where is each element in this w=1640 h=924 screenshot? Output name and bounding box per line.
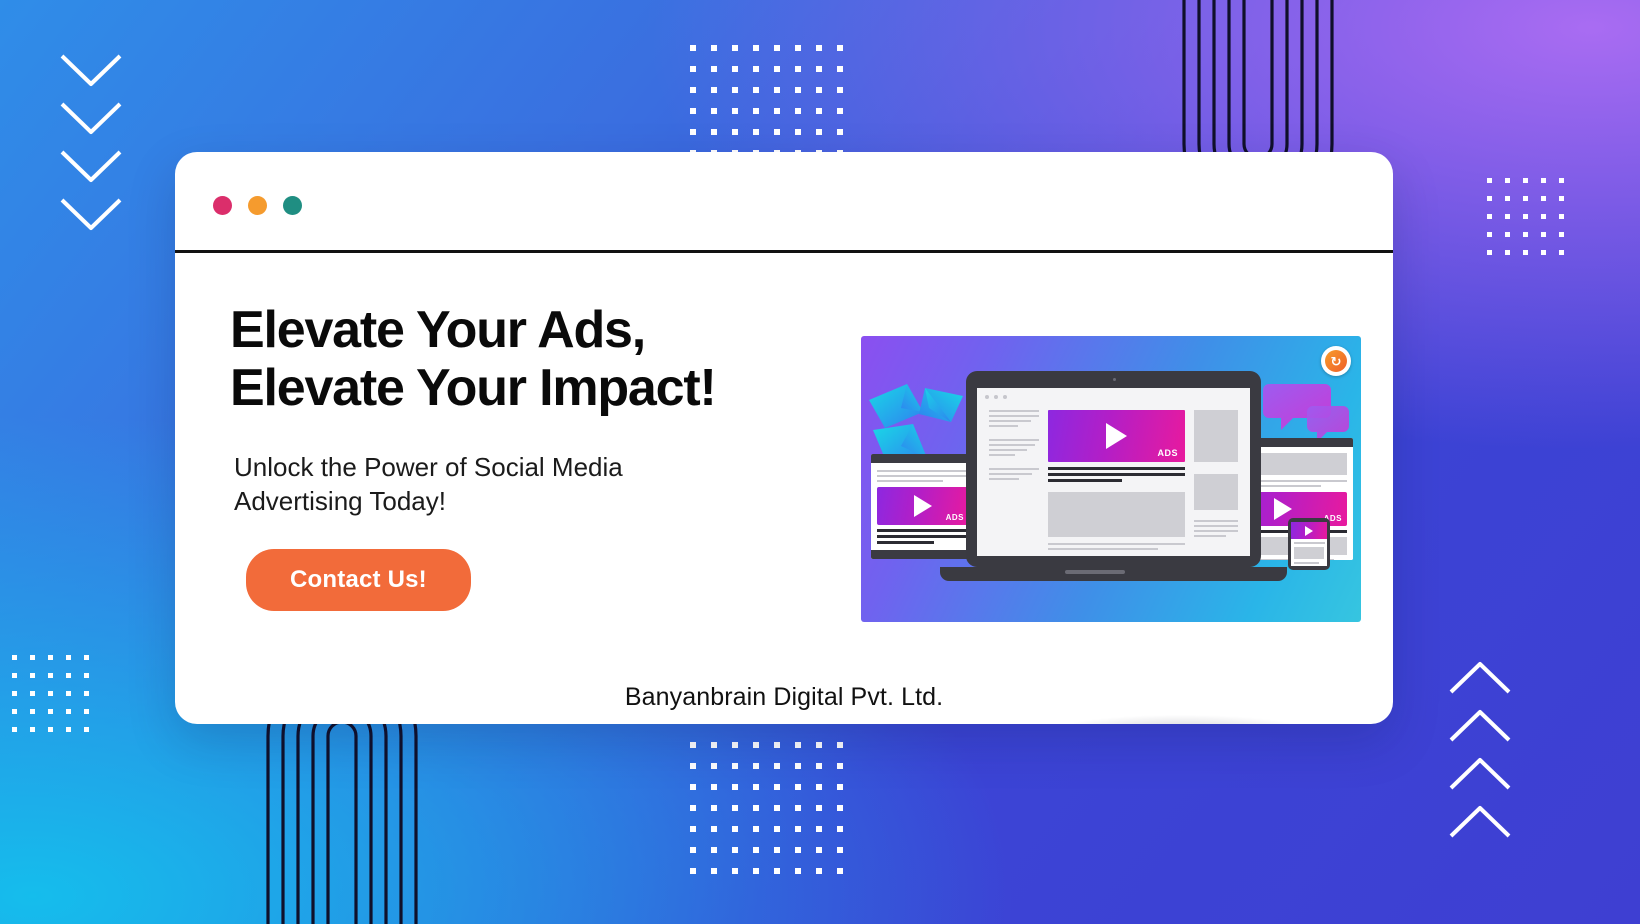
play-icon — [914, 495, 932, 517]
dot-grid-bottom — [690, 742, 858, 889]
chevron-up-icon — [1447, 652, 1513, 700]
close-dot-icon[interactable] — [213, 196, 232, 215]
brand-badge-icon[interactable]: ↻ — [1321, 346, 1351, 376]
laptop-trackpad-notch — [1065, 570, 1125, 574]
window-titlebar — [175, 152, 1393, 250]
dot-grid-right — [1487, 178, 1577, 268]
phone-screen — [1291, 522, 1327, 566]
chevron-up-icon — [1447, 796, 1513, 844]
browser-window-card: Elevate Your Ads, Elevate Your Impact! U… — [175, 152, 1393, 724]
headline-line-1: Elevate Your Ads, — [230, 301, 870, 359]
chevron-down-icon — [58, 146, 124, 194]
card-body: Elevate Your Ads, Elevate Your Impact! U… — [175, 253, 1393, 724]
laptop-video-ad[interactable]: ADS — [1048, 410, 1185, 462]
traffic-light-dots — [213, 196, 302, 215]
laptop-right-column — [1194, 410, 1238, 553]
ads-label: ADS — [1157, 448, 1178, 458]
page-title: Elevate Your Ads, Elevate Your Impact! — [230, 301, 870, 417]
chevron-up-icon — [1447, 700, 1513, 748]
laptop-camera-icon — [1113, 378, 1116, 381]
headline-line-2: Elevate Your Impact! — [230, 359, 870, 417]
play-icon — [1305, 526, 1313, 536]
contact-us-button[interactable]: Contact Us! — [246, 549, 471, 611]
chevron-down-icon — [58, 98, 124, 146]
poster-canvas: Elevate Your Ads, Elevate Your Impact! U… — [0, 0, 1640, 924]
illustration-multi-device-mockup: ADS — [861, 336, 1361, 622]
laptop-window-dots — [985, 395, 1007, 399]
chevron-up-stack-right — [1447, 652, 1513, 844]
laptop-mockup: ADS — [966, 371, 1261, 586]
dot-grid-left — [12, 655, 102, 745]
laptop-main-column: ADS — [1048, 410, 1185, 553]
laptop-sidebar-column — [989, 410, 1039, 553]
chevron-up-icon — [1447, 748, 1513, 796]
laptop-base — [940, 567, 1287, 581]
chevron-down-icon — [58, 194, 124, 242]
laptop-screen: ADS — [977, 388, 1250, 556]
brand-badge-glyph: ↻ — [1331, 355, 1342, 368]
play-icon — [1274, 498, 1292, 520]
subhead-line-1: Unlock the Power of Social Media — [234, 451, 714, 485]
chevron-down-stack-left — [58, 50, 124, 242]
phone-video-ad[interactable] — [1291, 522, 1327, 539]
subhead-line-2: Advertising Today! — [234, 485, 714, 519]
hero-subheading: Unlock the Power of Social Media Adverti… — [234, 451, 714, 519]
hero-copy-column: Elevate Your Ads, Elevate Your Impact! U… — [230, 301, 870, 611]
phone-mockup — [1288, 518, 1330, 570]
maximize-dot-icon[interactable] — [283, 196, 302, 215]
minimize-dot-icon[interactable] — [248, 196, 267, 215]
chevron-down-icon — [58, 50, 124, 98]
laptop-lid: ADS — [966, 371, 1261, 567]
tablet-left-video-ad[interactable]: ADS — [877, 487, 969, 525]
chat-bubble-shapes — [1263, 380, 1349, 442]
play-icon — [1106, 423, 1127, 449]
brand-badge-inner: ↻ — [1325, 350, 1347, 372]
ads-label: ADS — [946, 513, 964, 522]
